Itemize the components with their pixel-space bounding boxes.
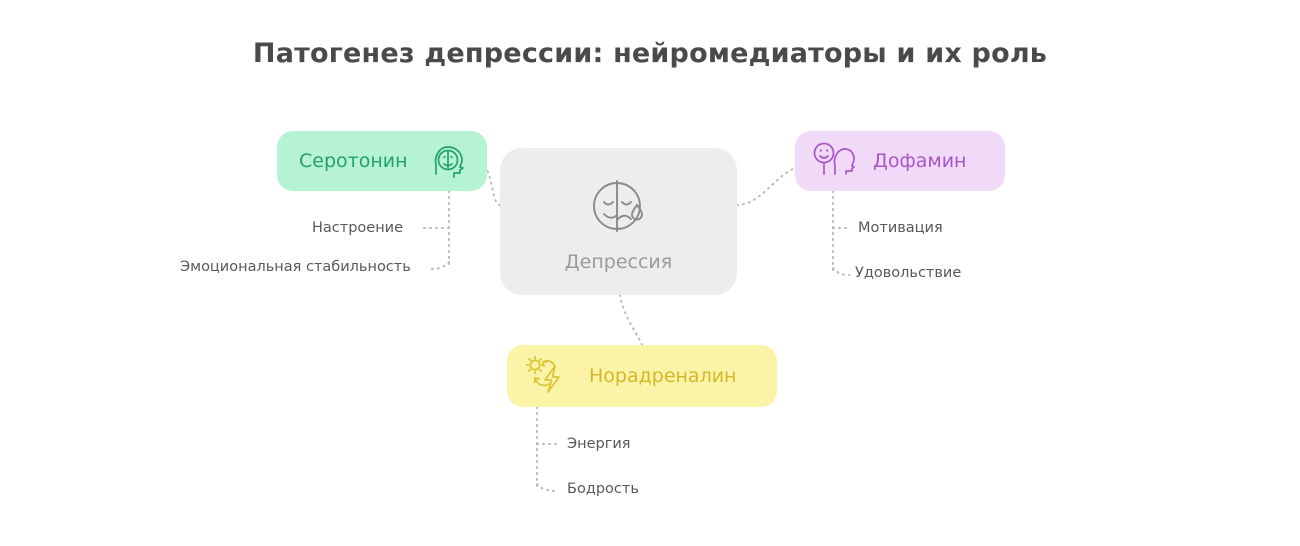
node-noradrenalin-label: Норадреналин <box>589 365 736 387</box>
node-dopamine[interactable]: Дофамин <box>795 131 1005 191</box>
mindmap-canvas: Патогенез депрессии: нейромедиаторы и их… <box>0 0 1300 546</box>
node-noradrenalin[interactable]: Норадреналин <box>507 345 777 407</box>
edge-serotonin-emotional <box>430 262 449 269</box>
smiley-head-profile-icon <box>811 140 855 182</box>
node-serotonin-label: Серотонин <box>299 150 408 172</box>
node-serotonin[interactable]: Серотонин <box>277 131 487 191</box>
node-depression[interactable]: Депрессия <box>500 148 737 295</box>
edge-noradrenalin-vigor <box>537 484 557 491</box>
page-title: Патогенез депрессии: нейромедиаторы и их… <box>0 38 1300 69</box>
leaf-noradrenalin-vigor: Бодрость <box>567 481 639 497</box>
sun-lightning-cycle-icon <box>523 354 569 398</box>
node-dopamine-label: Дофамин <box>873 150 966 172</box>
leaf-dopamine-motivation: Мотивация <box>858 220 943 236</box>
edge-dopamine-pleasure <box>833 268 849 275</box>
leaf-serotonin-emotional-stability: Эмоциональная стабильность <box>180 259 411 275</box>
edge-center-noradrenalin <box>620 295 642 345</box>
head-with-face-circle-icon <box>429 141 469 181</box>
leaf-dopamine-pleasure: Удовольствие <box>855 265 961 281</box>
leaf-serotonin-mood: Настроение <box>312 220 403 236</box>
half-happy-half-sad-face-with-tear-icon <box>584 171 654 241</box>
edge-center-serotonin <box>487 170 500 205</box>
leaf-noradrenalin-energy: Энергия <box>567 436 631 452</box>
node-depression-label: Депрессия <box>565 251 672 273</box>
edge-center-dopamine <box>737 168 795 205</box>
